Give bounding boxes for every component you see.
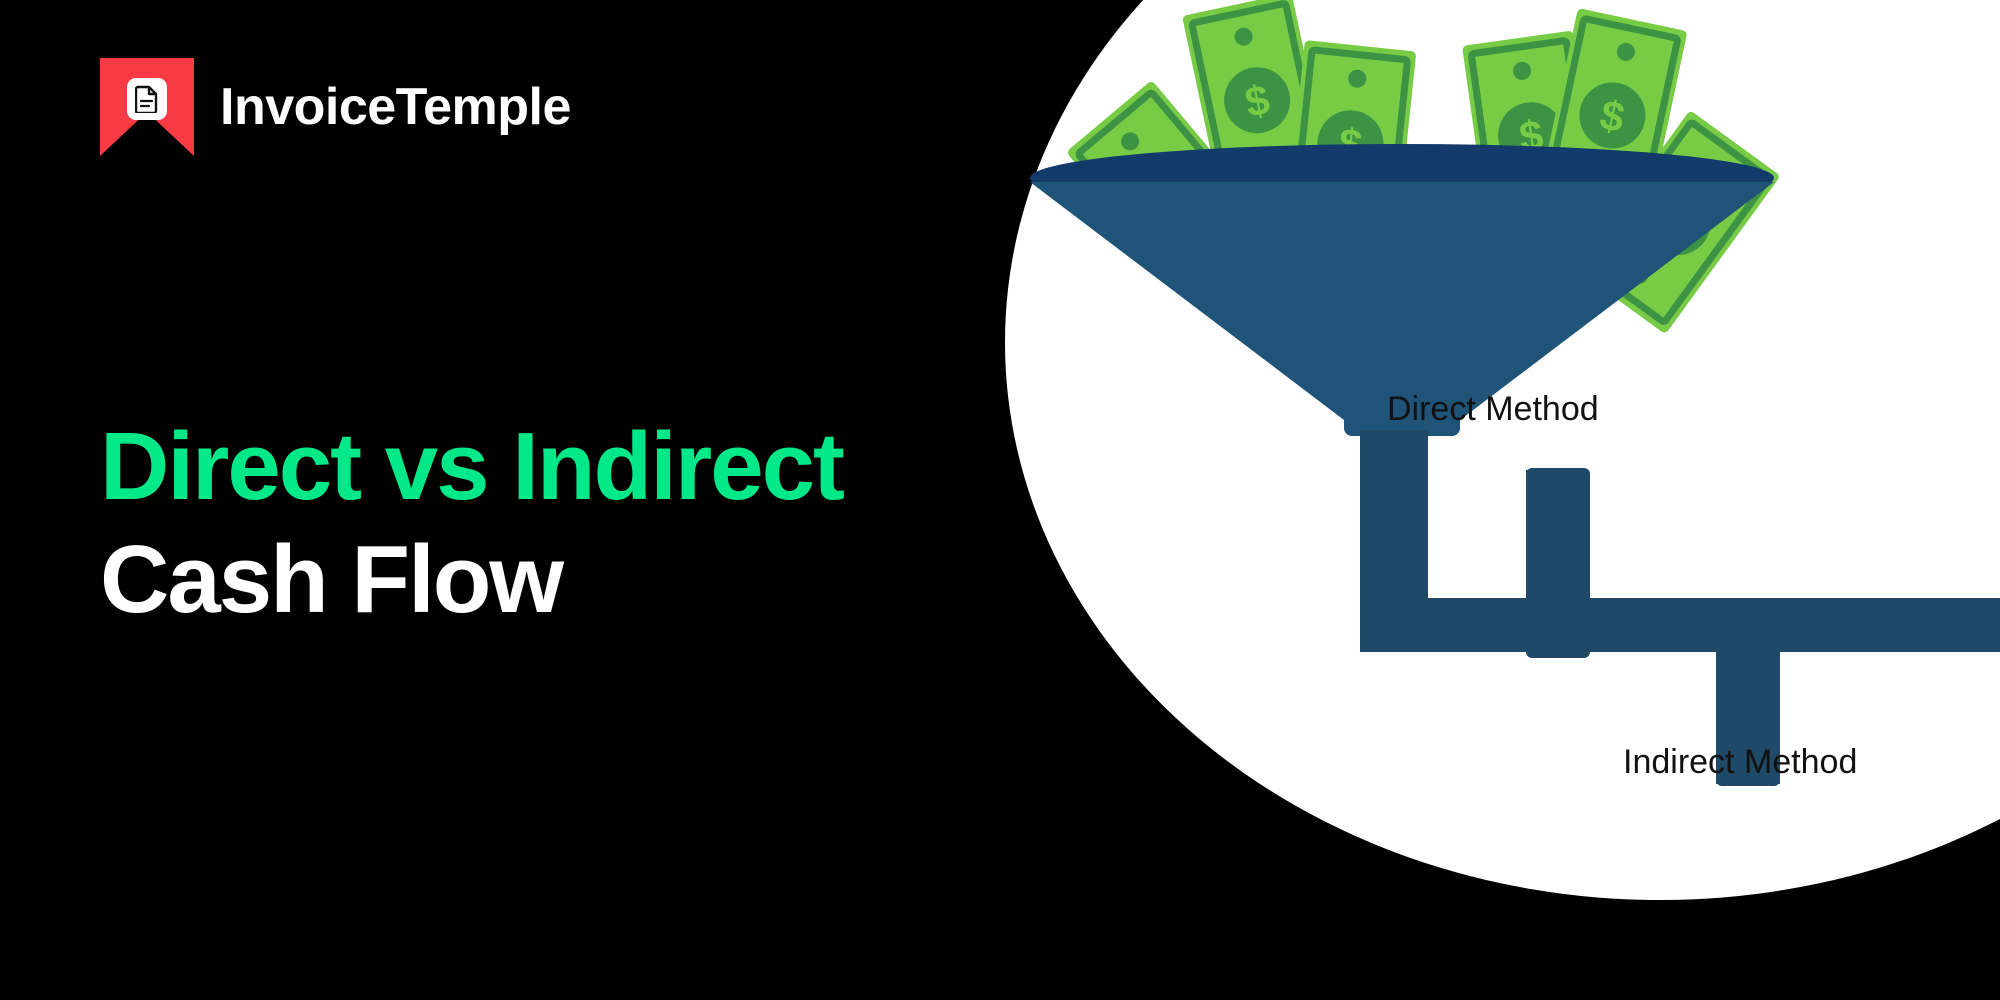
headline-line-1: Direct vs Indirect: [100, 410, 843, 523]
page-title: Direct vs Indirect Cash Flow: [100, 410, 843, 637]
brand-lockup[interactable]: InvoiceTemple: [100, 58, 571, 156]
poster-canvas: InvoiceTemple Direct vs Indirect Cash Fl…: [0, 0, 2000, 1000]
main-horizontal-pipe: [1360, 598, 2000, 652]
document-chip: [127, 78, 167, 120]
direct-method-label: Direct Method: [1387, 392, 1599, 426]
indirect-method-label: Indirect Method: [1623, 745, 1857, 779]
document-ribbon-icon: [100, 58, 194, 156]
headline-line-2: Cash Flow: [100, 523, 843, 636]
brand-name: InvoiceTemple: [220, 81, 571, 133]
